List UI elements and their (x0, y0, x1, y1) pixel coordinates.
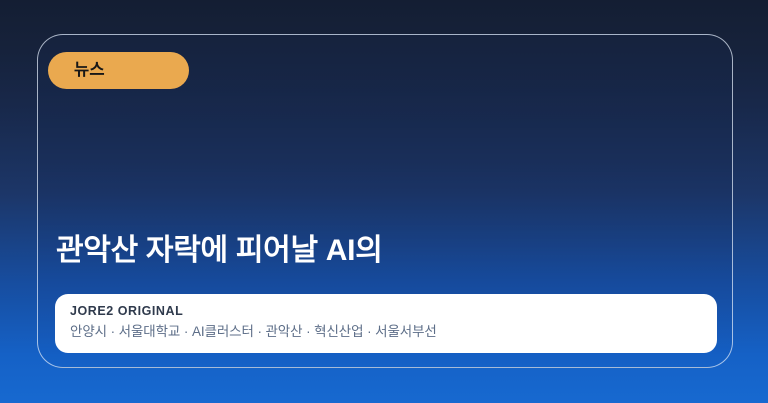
category-badge[interactable]: 뉴스 (48, 52, 189, 89)
headline-line-2: 미래, 안양과 서울대의 손잡기 (56, 365, 696, 368)
source-panel: JORE2 ORIGINAL 안양시 · 서울대학교 · AI클러스터 · 관악… (55, 294, 717, 353)
source-tags: 안양시 · 서울대학교 · AI클러스터 · 관악산 · 혁신산업 · 서울서부… (70, 323, 702, 341)
headline-line-1: 관악산 자락에 피어날 AI의 (56, 228, 696, 274)
source-label: JORE2 ORIGINAL (70, 304, 702, 320)
news-card-stage: 뉴스 관악산 자락에 피어날 AI의 미래, 안양과 서울대의 손잡기 JORE… (0, 0, 768, 403)
news-card: 뉴스 관악산 자락에 피어날 AI의 미래, 안양과 서울대의 손잡기 JORE… (37, 34, 733, 368)
category-badge-label: 뉴스 (74, 62, 105, 79)
